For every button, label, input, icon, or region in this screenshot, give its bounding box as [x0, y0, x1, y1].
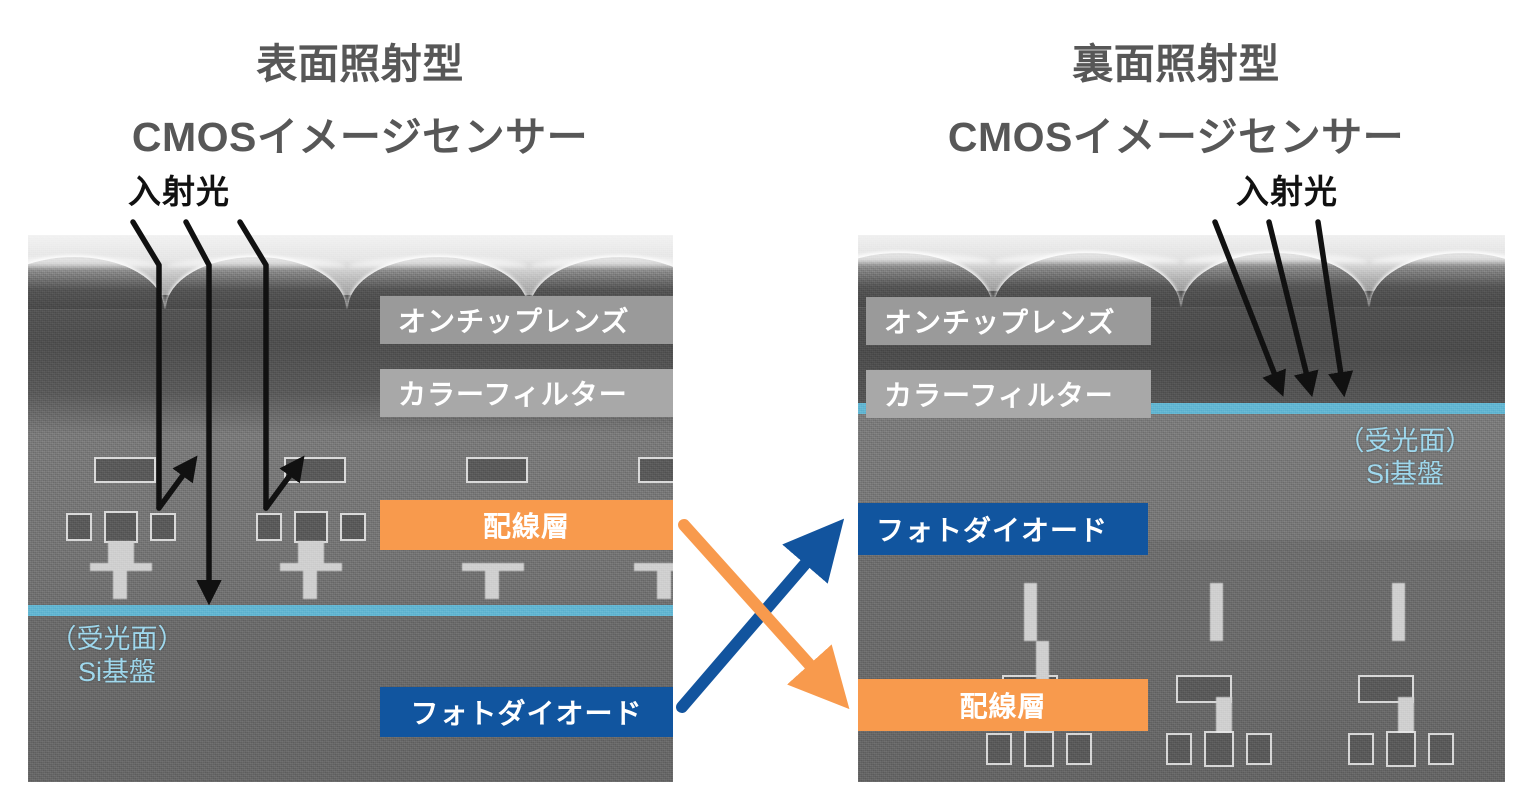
left-chip-wiring-layer: 配線層	[380, 500, 673, 550]
diagram-canvas: 表面照射型 CMOSイメージセンサー 裏面照射型 CMOSイメージセンサー 入射…	[0, 0, 1536, 807]
via-base	[634, 563, 673, 571]
right-chip-onchip-lens: オンチップレンズ	[866, 297, 1151, 345]
metal-line	[286, 459, 344, 481]
right-chip-photodiode: フォトダイオード	[858, 503, 1148, 555]
via-stem	[1210, 583, 1223, 641]
left-chip-onchip-lens: オンチップレンズ	[380, 296, 673, 344]
microlens	[1182, 253, 1368, 307]
wiring-moves-down-arrow	[684, 525, 835, 693]
right-incident-light-label: 入射光	[1236, 165, 1338, 213]
metal-line	[96, 459, 154, 481]
metal-contact	[1206, 733, 1232, 765]
left-substrate-caption: （受光面） Si基盤	[32, 623, 202, 689]
microlens	[28, 257, 164, 309]
metal-contact	[1026, 733, 1052, 765]
right-title-line1: 裏面照射型	[836, 38, 1516, 90]
left-incident-light-label: 入射光	[128, 165, 230, 213]
left-title-line1: 表面照射型	[20, 38, 700, 90]
metal-contact	[296, 513, 326, 541]
metal-contact	[68, 515, 90, 539]
via-base	[462, 563, 524, 571]
metal-contact	[988, 735, 1010, 763]
metal-line	[468, 459, 526, 481]
metal-contact	[1068, 735, 1090, 763]
microlens	[166, 257, 346, 309]
via-base	[90, 563, 152, 571]
via-stem	[1036, 641, 1049, 681]
right-chip-color-filter: カラーフィルター	[866, 370, 1151, 418]
metal-contact	[258, 515, 280, 539]
metal-contact	[342, 515, 364, 539]
right-title-line2: CMOSイメージセンサー	[836, 111, 1516, 163]
metal-contact	[1388, 733, 1414, 765]
microlens	[1370, 253, 1505, 307]
right-substrate-caption: （受光面） Si基盤	[1310, 425, 1500, 491]
via-stem	[1392, 583, 1405, 641]
left-panel-title: 表面照射型 CMOSイメージセンサー	[20, 18, 700, 184]
via-stem	[1216, 697, 1232, 733]
via-base	[280, 563, 342, 571]
left-title-line2: CMOSイメージセンサー	[20, 111, 700, 163]
left-chip-photodiode: フォトダイオード	[380, 687, 673, 737]
metal-contact	[1430, 735, 1452, 763]
metal-contact	[152, 515, 174, 539]
via-stem	[1024, 583, 1037, 641]
metal-contact	[1350, 735, 1372, 763]
transition-arrows	[682, 525, 835, 707]
via-stem	[1398, 697, 1414, 733]
left-si-surface-line	[28, 605, 673, 616]
metal-contact	[106, 513, 136, 541]
metal-contact	[1248, 735, 1270, 763]
left-chip-color-filter: カラーフィルター	[380, 369, 673, 417]
photodiode-moves-up-arrow	[682, 535, 830, 707]
right-chip-wiring-layer: 配線層	[858, 679, 1148, 731]
metal-contact	[1168, 735, 1190, 763]
metal-line	[640, 459, 673, 481]
right-panel-title: 裏面照射型 CMOSイメージセンサー	[836, 18, 1516, 184]
